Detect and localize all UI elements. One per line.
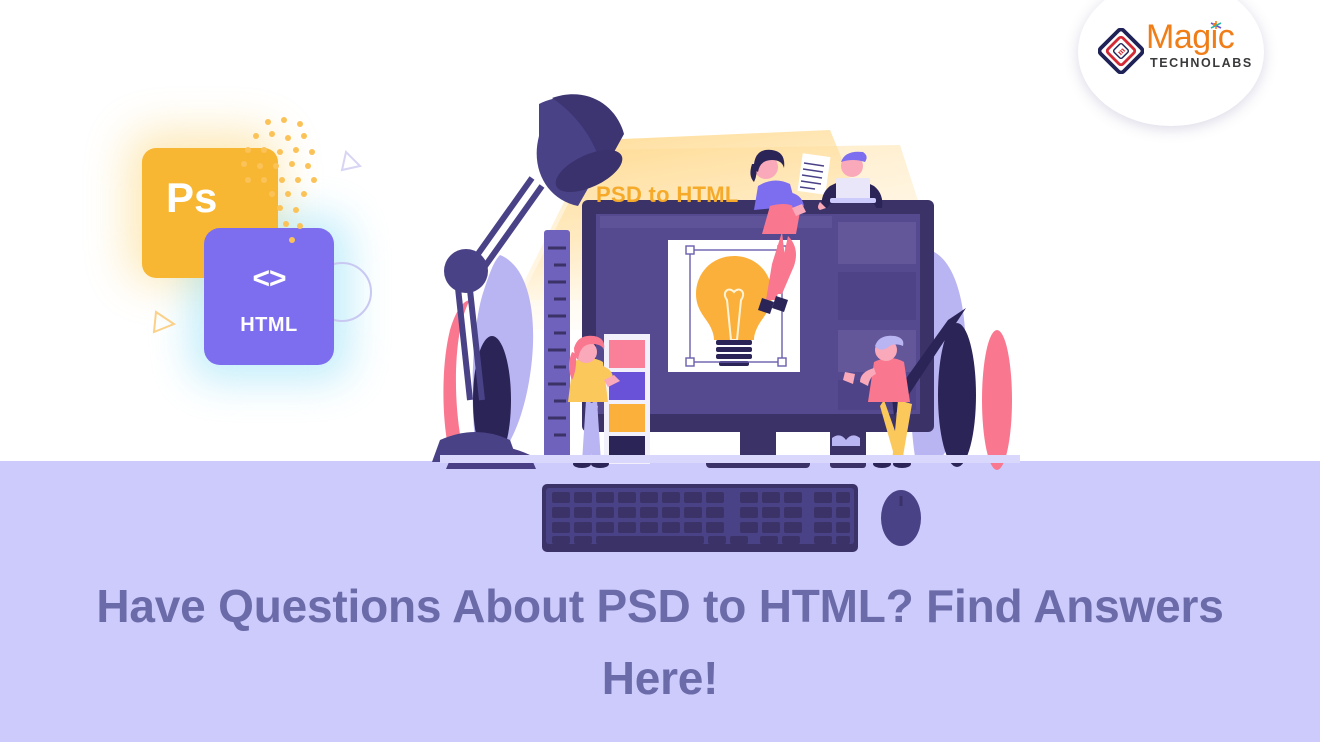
brand-tagline: TECHNOLABS bbox=[1150, 56, 1253, 70]
brand-name: Magic bbox=[1146, 18, 1234, 57]
magic-diamond-icon: m bbox=[1098, 28, 1144, 74]
promo-banner: PSD to HTML Ps <> HTML Have Questions Ab… bbox=[0, 0, 1320, 742]
dot-pattern bbox=[241, 117, 317, 243]
triangle-outline-orange bbox=[154, 312, 174, 332]
brand-logo: m Magic TECHNOLABS bbox=[1098, 24, 1250, 82]
psd-to-html-caption: PSD to HTML bbox=[596, 182, 739, 208]
triangle-outline-gray bbox=[342, 152, 360, 170]
